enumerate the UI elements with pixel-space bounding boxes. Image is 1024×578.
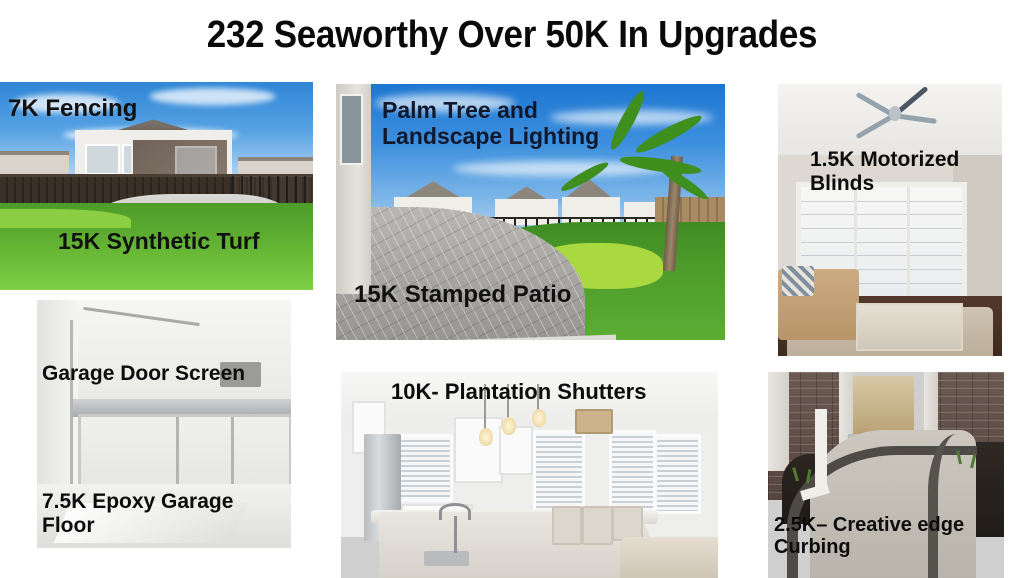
label-synthetic-turf: 15K Synthetic Turf	[58, 229, 260, 255]
downspout	[815, 409, 827, 491]
coffee-table	[856, 303, 963, 351]
plantation-shutter	[654, 434, 701, 514]
sink	[424, 551, 469, 565]
pendant-bulb	[502, 417, 516, 435]
front-door	[853, 376, 914, 438]
chandelier	[575, 409, 613, 434]
dining-chair	[552, 506, 582, 545]
sofa	[620, 537, 718, 578]
upgrades-slide: 232 Seaworthy Over 50K In Upgrades 7K Fe…	[0, 0, 1024, 578]
dining-chair	[582, 506, 612, 545]
photo-kitchen-shutters: 10K- Plantation Shutters	[341, 372, 718, 578]
pendant-bulb	[532, 409, 546, 427]
faucet-arc	[439, 503, 471, 520]
window-shape	[85, 144, 120, 175]
plantation-shutter	[398, 434, 453, 502]
throw-pillow	[782, 266, 813, 296]
garage-door-edge	[768, 372, 789, 471]
label-palm-landscape-lighting: Palm Tree and Landscape Lighting	[382, 98, 599, 150]
page-title: 232 Seaworthy Over 50K In Upgrades	[41, 14, 983, 57]
photo-garage-screen-epoxy: Garage Door Screen 7.5K Epoxy Garage Flo…	[37, 300, 291, 548]
label-epoxy-garage-floor: 7.5K Epoxy Garage Floor	[42, 490, 233, 537]
fan-hub	[889, 106, 901, 121]
photo-living-room-blinds: 1.5K Motorized Blinds	[778, 84, 1002, 356]
faucet	[454, 516, 457, 553]
photo-backyard-turf-fence: 7K Fencing 15K Synthetic Turf	[0, 82, 313, 290]
label-garage-door-screen: Garage Door Screen	[42, 362, 245, 386]
dining-chair	[612, 506, 642, 541]
plantation-shutter	[533, 430, 584, 514]
upper-cabinet	[454, 417, 503, 483]
label-fencing: 7K Fencing	[8, 96, 137, 123]
photo-front-walkway-curbing: 2.5K– Creative edge Curbing	[768, 372, 1004, 578]
pendant-bulb	[479, 428, 493, 446]
window-shape	[340, 94, 363, 165]
photo-stamped-patio-palm: Palm Tree and Landscape Lighting 15K Sta…	[336, 84, 725, 340]
label-motorized-blinds: 1.5K Motorized Blinds	[810, 148, 959, 195]
label-creative-edge-curbing: 2.5K– Creative edge Curbing	[774, 514, 964, 559]
ceiling-fan-icon	[850, 95, 940, 130]
label-stamped-patio: 15K Stamped Patio	[354, 282, 571, 309]
label-plantation-shutters: 10K- Plantation Shutters	[391, 380, 646, 405]
plantation-shutter	[609, 430, 656, 514]
cloud-shape	[150, 88, 275, 105]
